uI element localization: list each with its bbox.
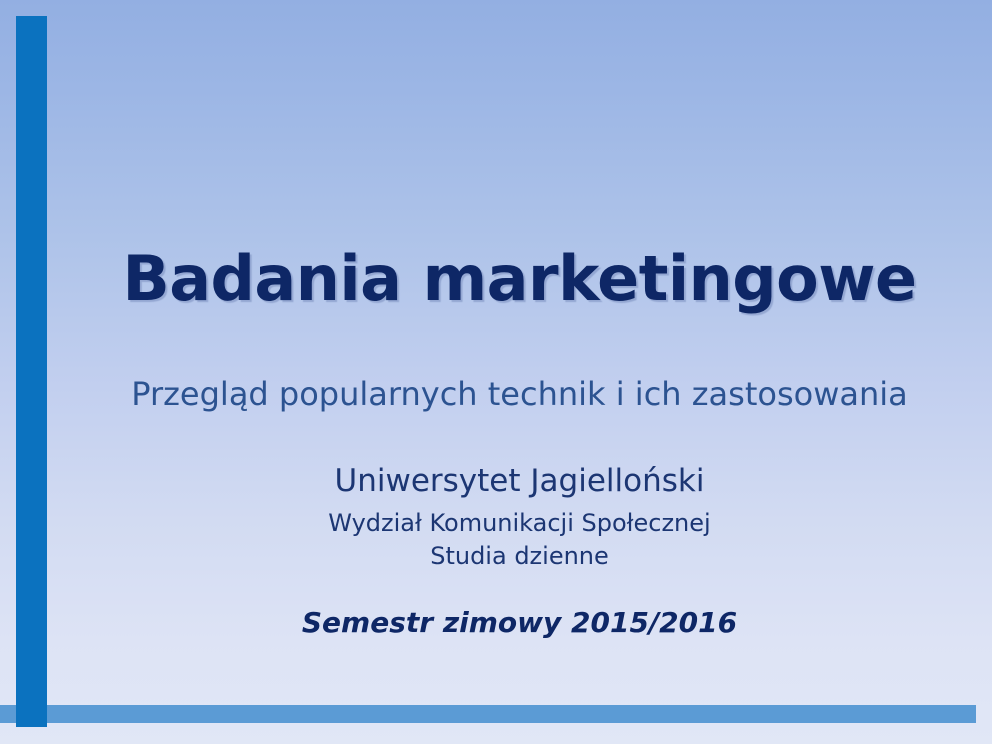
organization-faculty: Wydział Komunikacji Społecznej <box>47 510 992 536</box>
semester-label: Semestr zimowy 2015/2016 <box>47 608 992 639</box>
vertical-accent-bar <box>16 16 47 727</box>
organization-university: Uniwersytet Jagielloński <box>47 464 992 498</box>
slide-title: Badania marketingowe <box>47 246 992 311</box>
slide-content: Badania marketingowe Przegląd popularnyc… <box>47 0 992 744</box>
presentation-slide: Badania marketingowe Przegląd popularnyc… <box>0 0 992 744</box>
organization-study-mode: Studia dzienne <box>47 543 992 569</box>
slide-subtitle: Przegląd popularnych technik i ich zasto… <box>47 377 992 412</box>
